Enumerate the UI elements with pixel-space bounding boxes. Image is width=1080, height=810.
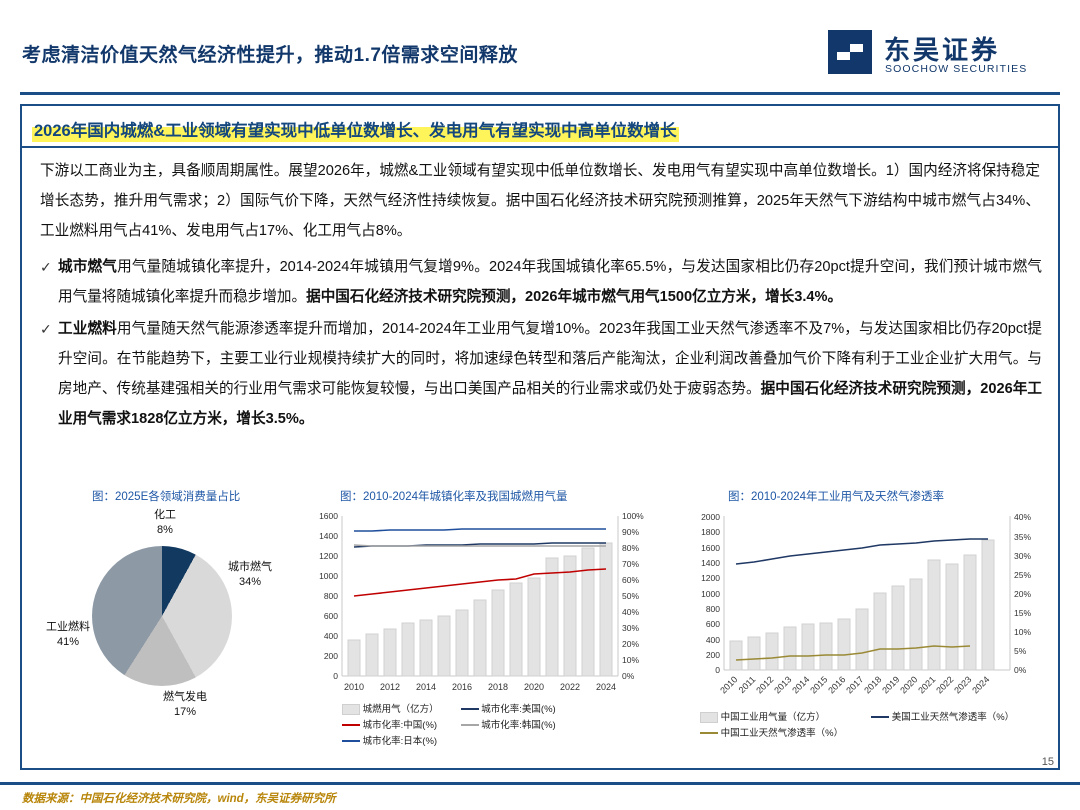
svg-text:20%: 20% — [622, 639, 639, 649]
urban-gas-chart: 0200400 6008001000 120014001600 0%10%20%… — [298, 508, 658, 758]
svg-text:60%: 60% — [622, 575, 639, 585]
svg-text:1200: 1200 — [701, 573, 720, 583]
legend-swatch-us — [461, 708, 479, 710]
svg-text:2024: 2024 — [596, 682, 616, 692]
svg-text:400: 400 — [706, 635, 720, 645]
svg-text:600: 600 — [324, 611, 338, 621]
svg-text:30%: 30% — [622, 623, 639, 633]
slide-header: 考虑清洁价值天然气经济性提升，推动1.7倍需求空间释放 东吴证券 SOOCHOW… — [0, 0, 1080, 96]
company-logo: 东吴证券 SOOCHOW SECURITIES — [828, 30, 1058, 86]
legend-label-kr: 城市化率:韩国(%) — [481, 720, 555, 731]
svg-text:5%: 5% — [1014, 646, 1027, 656]
pie-label-power: 燃气发电17% — [148, 690, 222, 720]
svg-text:15%: 15% — [1014, 608, 1031, 618]
svg-text:2014: 2014 — [790, 674, 811, 695]
bullet-1-part-1: 城市燃气 — [58, 259, 117, 275]
svg-text:800: 800 — [706, 604, 720, 614]
svg-text:2000: 2000 — [701, 512, 720, 522]
svg-text:800: 800 — [324, 591, 338, 601]
svg-text:35%: 35% — [1014, 532, 1031, 542]
page-number: 15 — [1042, 756, 1054, 768]
svg-text:2020: 2020 — [898, 674, 919, 695]
svg-text:2021: 2021 — [916, 674, 937, 695]
logo-chinese-name: 东吴证券 — [884, 30, 1000, 67]
legend-label-cn: 城市化率:中国(%) — [363, 720, 437, 731]
urban-gas-chart-svg: 0200400 6008001000 120014001600 0%10%20%… — [298, 508, 658, 698]
page-title: 考虑清洁价值天然气经济性提升，推动1.7倍需求空间释放 — [22, 40, 518, 67]
pie-chart: 化工8% 城市燃气34% 工业燃料41% 燃气发电17% — [30, 508, 290, 738]
industry-gas-chart-svg: 0200400 6008001000 120014001600 18002000… — [680, 508, 1052, 708]
svg-text:40%: 40% — [1014, 512, 1031, 522]
svg-text:2012: 2012 — [380, 682, 400, 692]
svg-text:25%: 25% — [1014, 570, 1031, 580]
section-banner-divider — [22, 146, 1058, 148]
svg-text:80%: 80% — [622, 543, 639, 553]
chart-caption-pie: 图：2025E各领域消费量占比 — [92, 488, 240, 504]
industry-gas-chart: 0200400 6008001000 120014001600 18002000… — [680, 508, 1052, 758]
svg-text:1600: 1600 — [319, 511, 338, 521]
header-divider — [20, 92, 1060, 95]
svg-text:2023: 2023 — [952, 674, 973, 695]
urban-chart-legend: 城燃用气（亿方） 城市化率:美国(%) 城市化率:中国(%) 城市化率:韩国(%… — [342, 700, 652, 748]
pie-label-city-gas: 城市燃气34% — [212, 560, 288, 590]
svg-text:1000: 1000 — [701, 589, 720, 599]
legend-swatch-industry-gas — [700, 712, 718, 723]
bullet-text-1: 城市燃气用气量随城镇化率提升，2014-2024年城镇用气复增9%。2024年我… — [58, 252, 1042, 312]
svg-text:2015: 2015 — [808, 674, 829, 695]
svg-text:2019: 2019 — [880, 674, 901, 695]
footer-divider — [0, 782, 1080, 785]
industry-chart-legend: 中国工业用气量（亿方） 美国工业天然气渗透率（%） 中国工业天然气渗透率（%） — [700, 708, 1050, 740]
svg-text:2014: 2014 — [416, 682, 436, 692]
svg-text:200: 200 — [706, 650, 720, 660]
svg-text:2010: 2010 — [344, 682, 364, 692]
svg-text:2016: 2016 — [826, 674, 847, 695]
svg-text:70%: 70% — [622, 559, 639, 569]
svg-text:2018: 2018 — [488, 682, 508, 692]
svg-text:90%: 90% — [622, 527, 639, 537]
svg-text:2022: 2022 — [560, 682, 580, 692]
svg-text:600: 600 — [706, 619, 720, 629]
svg-text:1800: 1800 — [701, 527, 720, 537]
svg-text:2016: 2016 — [452, 682, 472, 692]
svg-text:200: 200 — [324, 651, 338, 661]
pie-chart-circle — [92, 546, 232, 686]
svg-text:2012: 2012 — [754, 674, 775, 695]
legend-label-urban-gas: 城燃用气（亿方） — [363, 704, 439, 715]
pie-label-chemical: 化工8% — [130, 508, 200, 538]
svg-text:2022: 2022 — [934, 674, 955, 695]
svg-text:0: 0 — [333, 671, 338, 681]
svg-text:1600: 1600 — [701, 543, 720, 553]
slide: 考虑清洁价值天然气经济性提升，推动1.7倍需求空间释放 东吴证券 SOOCHOW… — [0, 0, 1080, 810]
logo-mark-icon — [828, 30, 872, 74]
svg-text:2017: 2017 — [844, 674, 865, 695]
pie-label-industrial: 工业燃料41% — [30, 620, 106, 650]
intro-paragraph: 下游以工商业为主，具备顺周期属性。展望2026年，城燃&工业领域有望实现中低单位… — [40, 156, 1040, 246]
check-icon: ✓ — [40, 252, 58, 282]
bullet-text-2: 工业燃料用气量随天然气能源渗透率提升而增加，2014-2024年工业用气复增10… — [58, 314, 1042, 434]
svg-text:0: 0 — [715, 665, 720, 675]
svg-text:1200: 1200 — [319, 551, 338, 561]
chart-caption-industry: 图：2010-2024年工业用气及天然气渗透率 — [728, 488, 944, 504]
svg-text:400: 400 — [324, 631, 338, 641]
svg-text:0%: 0% — [622, 671, 635, 681]
svg-text:40%: 40% — [622, 607, 639, 617]
svg-text:2011: 2011 — [737, 674, 758, 695]
chart-caption-urban: 图：2010-2024年城镇化率及我国城燃用气量 — [340, 488, 568, 504]
legend-label-industry-gas: 中国工业用气量（亿方） — [721, 712, 826, 723]
svg-text:2020: 2020 — [524, 682, 544, 692]
legend-label-us-penetration: 美国工业天然气渗透率（%） — [892, 712, 1014, 723]
legend-label-jp: 城市化率:日本(%) — [363, 736, 437, 747]
legend-swatch-kr — [461, 724, 479, 726]
list-item: ✓ 城市燃气用气量随城镇化率提升，2014-2024年城镇用气复增9%。2024… — [40, 252, 1042, 312]
check-icon: ✓ — [40, 314, 58, 344]
svg-text:100%: 100% — [622, 511, 644, 521]
legend-label-us: 城市化率:美国(%) — [481, 704, 555, 715]
legend-swatch-cn — [342, 724, 360, 726]
svg-text:30%: 30% — [1014, 551, 1031, 561]
legend-swatch-urban-gas — [342, 704, 360, 715]
section-banner-text: 2026年国内城燃&工业领域有望实现中低单位数增长、发电用气有望实现中高单位数增… — [32, 116, 679, 142]
svg-text:2018: 2018 — [862, 674, 883, 695]
bullet-list: ✓ 城市燃气用气量随城镇化率提升，2014-2024年城镇用气复增9%。2024… — [40, 252, 1042, 436]
svg-text:1400: 1400 — [319, 531, 338, 541]
svg-text:1000: 1000 — [319, 571, 338, 581]
legend-label-cn-penetration: 中国工业天然气渗透率（%） — [721, 728, 843, 739]
legend-swatch-us-penetration — [871, 716, 889, 718]
legend-swatch-jp — [342, 740, 360, 742]
svg-text:50%: 50% — [622, 591, 639, 601]
svg-text:2024: 2024 — [970, 674, 991, 695]
logo-english-name: SOOCHOW SECURITIES — [885, 63, 1027, 75]
legend-swatch-cn-penetration — [700, 732, 718, 734]
section-banner: 2026年国内城燃&工业领域有望实现中低单位数增长、发电用气有望实现中高单位数增… — [22, 112, 1058, 146]
svg-text:20%: 20% — [1014, 589, 1031, 599]
svg-text:10%: 10% — [622, 655, 639, 665]
bullet-2-part-1: 工业燃料 — [58, 321, 117, 337]
svg-text:2013: 2013 — [772, 674, 793, 695]
svg-text:1400: 1400 — [701, 558, 720, 568]
svg-text:0%: 0% — [1014, 665, 1027, 675]
svg-text:10%: 10% — [1014, 627, 1031, 637]
list-item: ✓ 工业燃料用气量随天然气能源渗透率提升而增加，2014-2024年工业用气复增… — [40, 314, 1042, 434]
svg-text:2010: 2010 — [718, 674, 739, 695]
bullet-1-part-3: 据中国石化经济技术研究院预测，2026年城市燃气用气1500亿立方米，增长3.4… — [306, 289, 842, 305]
data-source: 数据来源：中国石化经济技术研究院，wind，东吴证券研究所 — [22, 790, 336, 806]
